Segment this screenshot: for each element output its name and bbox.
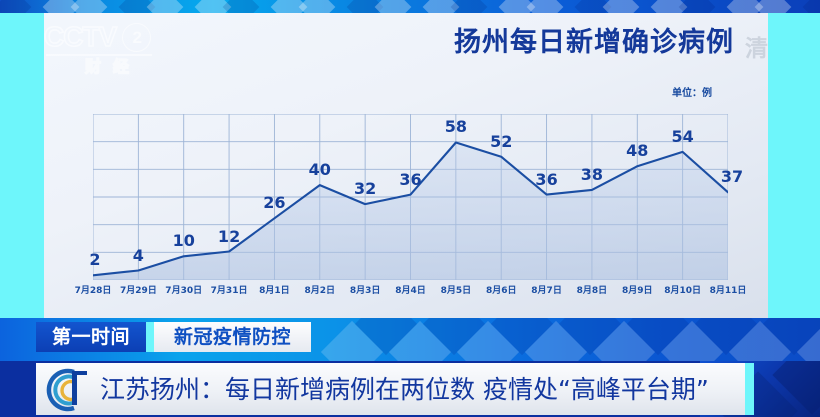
top-decor-band [0,0,820,13]
x-axis-tick-label: 8月7日 [531,285,562,297]
tag-separator [146,322,154,352]
decor-chevron [527,0,564,13]
x-axis-tick-label: 8月11日 [710,285,747,297]
line-chart-svg [93,114,728,280]
cctv-logo-text: CCTV 2 [44,22,168,52]
watermark-text: 清 [745,36,768,62]
cctv-logo-subtitle: 财经 [44,59,168,77]
left-cyan-bar [0,13,44,318]
x-axis-tick-label: 8月8日 [577,285,608,297]
decor-chevron [147,0,184,13]
x-axis-tick-label: 7月28日 [75,285,112,297]
x-axis-tick-label: 8月10日 [664,285,701,297]
decor-chevron [451,0,488,13]
chart-title: 扬州每日新增确诊病例 [454,27,734,59]
decor-chevron [0,0,31,13]
topic-tag: 新冠疫情防控 [154,322,311,352]
right-cyan-bar [768,13,820,318]
cctv-channel-number: 2 [122,23,151,52]
cctv-logo-rule [46,54,152,56]
headline-text: 江苏扬州：每日新增病例在两位数 疫情处“高峰平台期” [100,375,709,405]
decor-chevron [223,0,260,13]
x-axis-tick-label: 8月9日 [622,285,653,297]
decor-chevron [755,0,792,13]
x-axis-tick-label: 8月3日 [350,285,381,297]
decor-chevron [299,0,336,13]
chart-unit-label: 单位：例 [672,88,712,100]
x-axis-tick-label: 8月6日 [486,285,517,297]
program-tag: 第一时间 [36,322,146,352]
x-axis-tick-label: 7月30日 [165,285,202,297]
x-axis-tick-label: 8月1日 [259,285,290,297]
headline-cyan-edge [745,363,754,415]
decor-chevron [71,0,108,13]
cctv-logo: CCTV 2 财经 [44,22,168,82]
chart-plot-area [93,114,728,280]
x-axis-tick-label: 7月31日 [211,285,248,297]
x-axis-tick-label: 8月5日 [441,285,472,297]
x-axis-tick-label: 7月29日 [120,285,157,297]
decor-chevron [603,0,640,13]
decor-chevron [375,0,412,13]
decor-chevron [679,0,716,13]
chart-x-axis-labels: 7月28日7月29日7月30日7月31日8月1日8月2日8月3日8月4日8月5日… [93,285,728,299]
news-round-logo [44,366,96,414]
decor-chevron [803,0,820,13]
x-axis-tick-label: 8月4日 [395,285,426,297]
x-axis-tick-label: 8月2日 [305,285,336,297]
cctv-logo-letters: CCTV [44,22,116,52]
broadcast-screen: CCTV 2 财经 扬州每日新增确诊病例 清 单位：例 7月28日7月29日7月… [0,0,820,417]
